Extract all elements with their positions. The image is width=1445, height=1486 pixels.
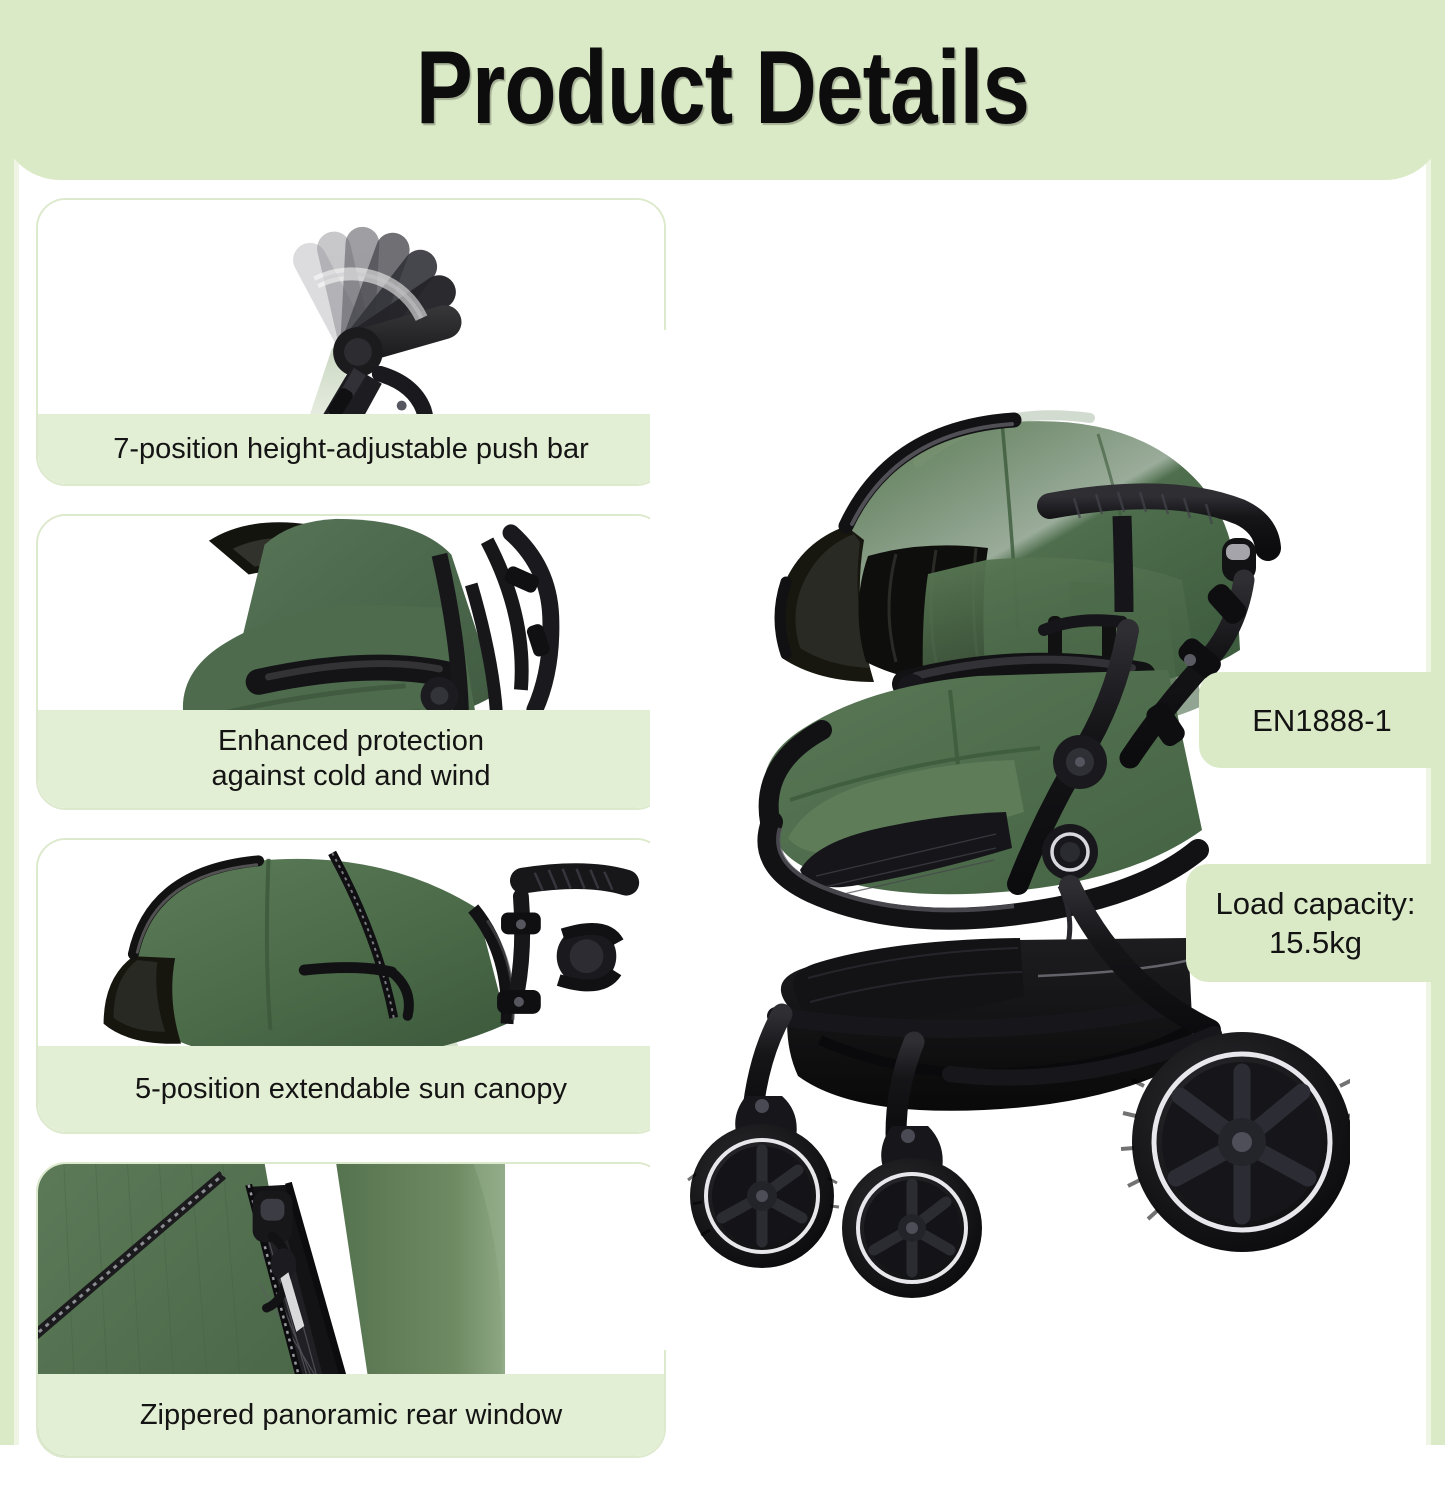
stroller-product-photo <box>650 330 1350 1350</box>
load-capacity-label: Load capacity: <box>1216 884 1416 923</box>
page-root: Product Details <box>0 0 1445 1445</box>
card-caption: Enhanced protection against cold and win… <box>38 710 664 808</box>
feature-card-rear-window[interactable]: Zippered panoramic rear window <box>36 1162 666 1458</box>
card-caption-text: 7-position height-adjustable push bar <box>113 432 589 467</box>
card-caption-line1: Enhanced protection <box>212 724 491 759</box>
card-caption-text: 5-position extendable sun canopy <box>135 1072 567 1107</box>
feature-card-sun-canopy[interactable]: 5-position extendable sun canopy <box>36 838 666 1134</box>
card-caption-text: Zippered panoramic rear window <box>140 1398 562 1433</box>
standard-badge: EN1888-1 <box>1199 672 1445 768</box>
feature-card-push-bar[interactable]: 7-position height-adjustable push bar <box>36 198 666 486</box>
card-caption-line2: against cold and wind <box>212 759 491 794</box>
feature-card-cold-wind[interactable]: Enhanced protection against cold and win… <box>36 514 666 810</box>
left-edge-strip-inner <box>14 0 19 1445</box>
left-edge-strip <box>0 0 14 1445</box>
standard-badge-text: EN1888-1 <box>1252 701 1392 740</box>
card-caption: 7-position height-adjustable push bar <box>38 414 664 484</box>
card-caption: Zippered panoramic rear window <box>38 1374 664 1456</box>
load-capacity-badge: Load capacity: 15.5kg <box>1186 864 1445 982</box>
load-capacity-value: 15.5kg <box>1216 923 1416 962</box>
page-title: Product Details <box>130 36 1315 140</box>
feature-card-list: 7-position height-adjustable push bar <box>36 198 668 1486</box>
card-caption: 5-position extendable sun canopy <box>38 1046 664 1132</box>
